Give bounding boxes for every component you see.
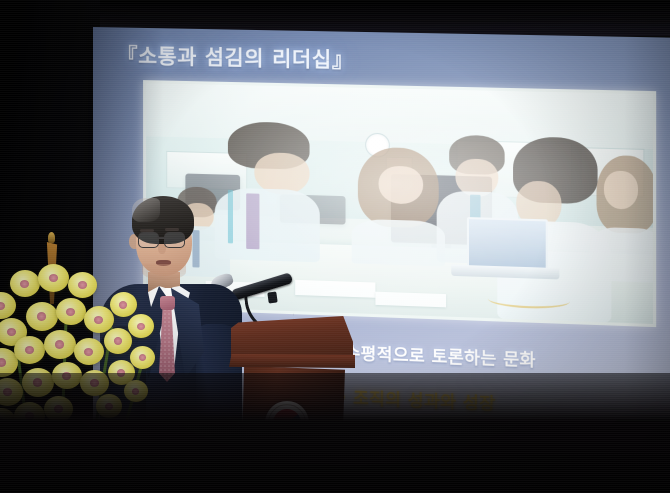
photo-person-woman-center xyxy=(350,146,446,266)
photo-person-woman-right xyxy=(590,152,653,283)
eyeglasses-icon xyxy=(138,232,159,248)
presentation-scene: 『소통과 섬김의 리더십』 xyxy=(0,0,670,493)
eyeglasses-icon xyxy=(164,232,185,248)
auditorium-foreground xyxy=(0,373,670,493)
slide-title: 『소통과 섬김의 리더십』 xyxy=(117,38,354,73)
